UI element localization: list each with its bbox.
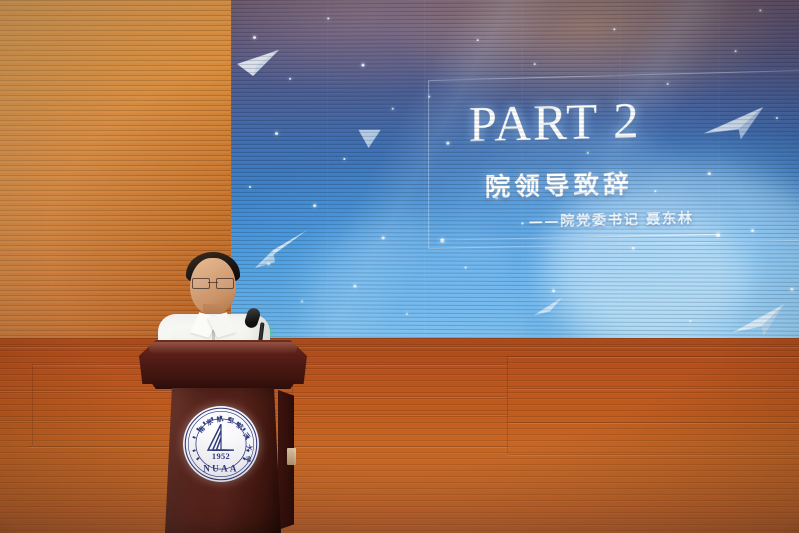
stage-front-wall bbox=[0, 338, 799, 533]
led-presentation-screen: PART 2 院领导致辞 ——院党委书记 聂东林 bbox=[231, 0, 799, 351]
slide-title: PART 2 bbox=[469, 91, 776, 149]
podium-lip bbox=[143, 380, 303, 389]
nuaa-university-emblem: 1952 NUAA 南 京 航 空 航 天 大 学 bbox=[183, 406, 259, 482]
slide-subtitle: 院领导致辞 bbox=[485, 164, 633, 204]
svg-text:南: 南 bbox=[196, 424, 207, 435]
paper-plane-icon bbox=[732, 302, 786, 337]
svg-text:空: 空 bbox=[227, 415, 235, 425]
svg-text:1952: 1952 bbox=[212, 452, 230, 461]
decorative-accent-rule bbox=[442, 234, 718, 241]
slide-byline: ——院党委书记 聂东林 bbox=[529, 208, 694, 232]
glasses bbox=[192, 278, 234, 287]
podium-top-surface bbox=[139, 340, 307, 384]
paper-plane-icon bbox=[237, 48, 283, 78]
presentation-photo: PART 2 院领导致辞 ——院党委书记 聂东林 bbox=[0, 0, 799, 533]
podium-card bbox=[287, 448, 296, 465]
svg-text:学: 学 bbox=[243, 456, 252, 464]
svg-text:京: 京 bbox=[204, 416, 215, 427]
emblem-artwork: 1952 NUAA 南 京 航 空 航 天 大 学 bbox=[183, 406, 259, 482]
paper-plane-icon bbox=[358, 128, 382, 150]
speaking-podium: 1952 NUAA 南 京 航 空 航 天 大 学 bbox=[137, 340, 309, 533]
svg-text:NUAA: NUAA bbox=[203, 463, 238, 473]
paper-plane-icon bbox=[534, 297, 565, 319]
